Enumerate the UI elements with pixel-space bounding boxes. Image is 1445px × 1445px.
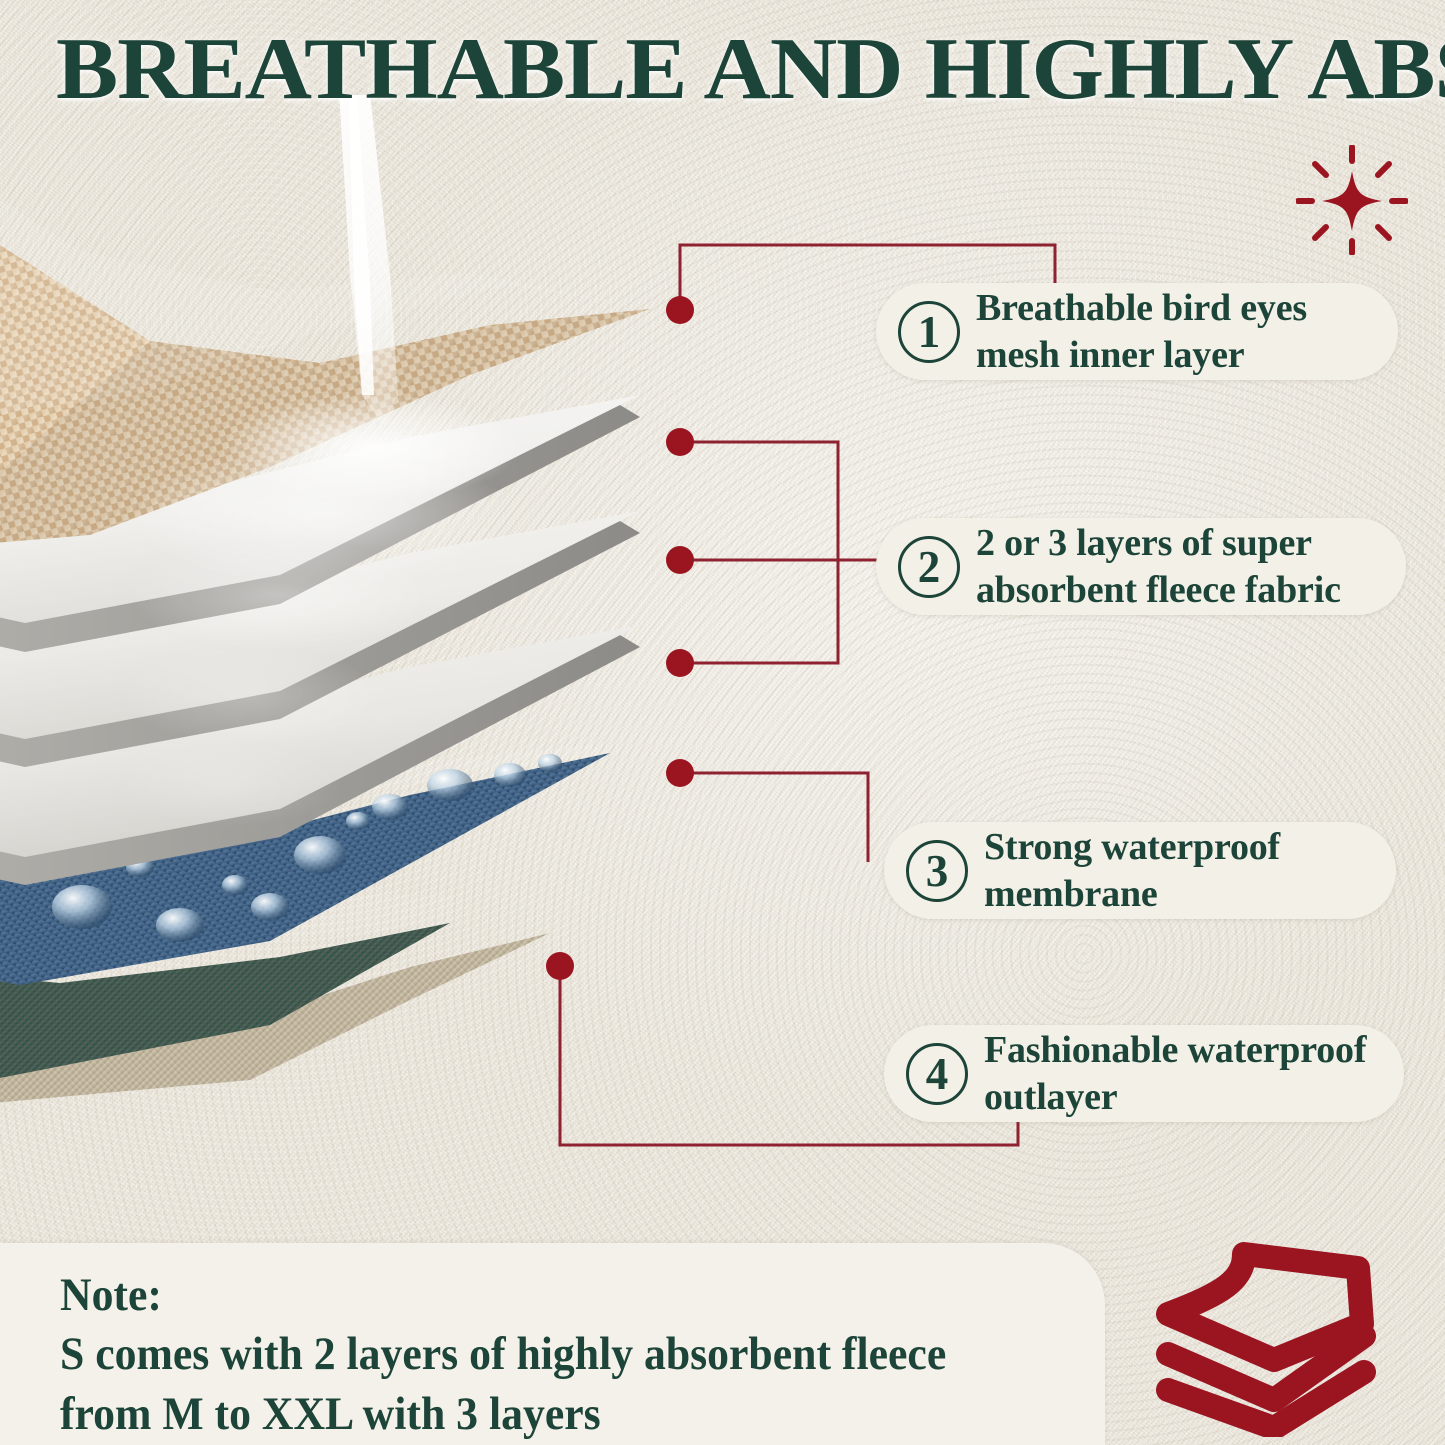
callout-2[interactable]: 2 2 or 3 layers of super absorbent fleec… [876,518,1406,615]
callout-2-line-2: absorbent fleece fabric [976,567,1341,613]
callout-2-text: 2 or 3 layers of super absorbent fleece … [976,520,1341,613]
callout-3-line-1: Strong waterproof [984,824,1280,870]
callout-1-text: Breathable bird eyes mesh inner layer [976,285,1307,378]
note-line-2: from M to XXL with 3 layers [60,1386,999,1443]
callout-4-text: Fashionable waterproof outlayer [984,1027,1366,1120]
callout-1-number: 1 [898,301,960,363]
fabric-layer-stack [0,95,850,1105]
callout-3-number: 3 [906,840,968,902]
callout-4[interactable]: 4 Fashionable waterproof outlayer [884,1025,1404,1122]
sparkle-icon [1296,145,1408,255]
layers-stack-icon [1152,1232,1420,1437]
note-panel: Note: S comes with 2 layers of highly ab… [0,1243,1105,1445]
note-text: Note: S comes with 2 layers of highly ab… [60,1267,999,1445]
callout-4-line-2: outlayer [984,1074,1366,1120]
page-title: BREATHABLE AND HIGHLY ABSORBENT [56,26,1445,114]
note-heading: Note: [60,1267,999,1324]
callout-2-number: 2 [898,536,960,598]
callout-1-line-1: Breathable bird eyes [976,285,1307,331]
callout-3-line-2: membrane [984,871,1280,917]
callout-4-number: 4 [906,1043,968,1105]
callout-1[interactable]: 1 Breathable bird eyes mesh inner layer [876,283,1398,380]
callout-3[interactable]: 3 Strong waterproof membrane [884,822,1396,919]
callout-1-line-2: mesh inner layer [976,332,1307,378]
callout-4-line-1: Fashionable waterproof [984,1027,1366,1073]
callout-2-line-1: 2 or 3 layers of super [976,520,1341,566]
note-line-1: S comes with 2 layers of highly absorben… [60,1326,999,1383]
infographic-canvas: BREATHABLE AND HIGHLY ABSORBENT [0,0,1445,1445]
callout-3-text: Strong waterproof membrane [984,824,1280,917]
